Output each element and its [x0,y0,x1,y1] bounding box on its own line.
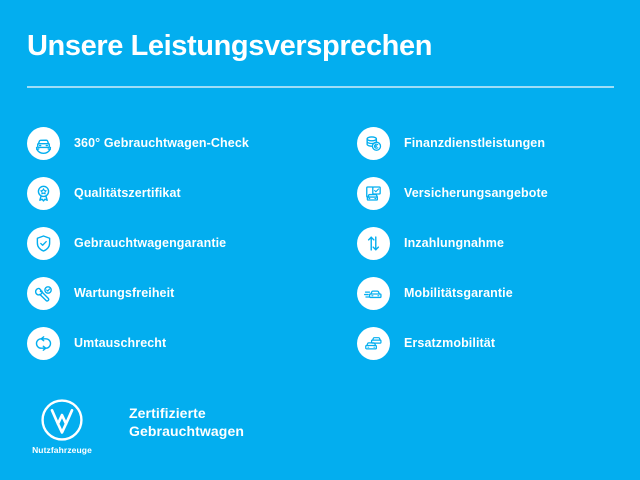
benefit-item-mobilitaetsgarantie[interactable]: Mobilitätsgarantie [357,268,627,318]
promise-slide: Unsere Leistungsversprechen 360° Gebrauc… [0,0,640,480]
header-divider [27,86,614,88]
benefit-label: Finanzdienstleistungen [404,135,545,151]
benefit-item-qualitaetszertifikat[interactable]: Qualitätszertifikat [27,168,327,218]
benefits-columns: 360° Gebrauchtwagen-Check Qualitätszerti… [0,118,640,368]
two-cars-icon [357,327,390,360]
vw-brand-sub: Nutzfahrzeuge [32,445,92,455]
benefit-item-gebrauchtwagen-check[interactable]: 360° Gebrauchtwagen-Check [27,118,327,168]
benefit-item-wartungsfreiheit[interactable]: Wartungsfreiheit [27,268,327,318]
benefit-label: Mobilitätsgarantie [404,285,513,301]
car-motion-icon [357,277,390,310]
benefit-label: Versicherungsangebote [404,185,548,201]
benefits-column-left: 360° Gebrauchtwagen-Check Qualitätszerti… [27,118,327,368]
arrows-up-down-icon [357,227,390,260]
exchange-arrows-icon [27,327,60,360]
benefit-label: Ersatzmobilität [404,335,495,351]
benefit-label: Inzahlungnahme [404,235,504,251]
benefit-label: Qualitätszertifikat [74,185,181,201]
benefit-label: Wartungsfreiheit [74,285,174,301]
benefits-column-right: Finanzdienstleistungen Versicherungsange… [357,118,627,368]
award-rosette-icon [27,177,60,210]
benefit-item-gebrauchtwagengarantie[interactable]: Gebrauchtwagengarantie [27,218,327,268]
benefit-item-inzahlungnahme[interactable]: Inzahlungnahme [357,218,627,268]
page-title: Unsere Leistungsversprechen [27,28,617,64]
benefit-item-ersatzmobilitaet[interactable]: Ersatzmobilität [357,318,627,368]
coins-euro-icon [357,127,390,160]
benefit-item-versicherungsangebote[interactable]: Versicherungsangebote [357,168,627,218]
benefit-label: Umtauschrecht [74,335,166,351]
footer-brand-lockup: Nutzfahrzeuge Zertifizierte Gebrauchtwag… [27,398,244,455]
car-360-check-icon [27,127,60,160]
benefit-label: Gebrauchtwagengarantie [74,235,226,251]
benefit-item-finanzdienstleistungen[interactable]: Finanzdienstleistungen [357,118,627,168]
vw-brand: Nutzfahrzeuge [27,398,97,455]
header: Unsere Leistungsversprechen [27,28,617,64]
footer-claim: Zertifizierte Gebrauchtwagen [129,404,244,440]
vw-roundel-logo [40,398,84,442]
wrench-check-icon [27,277,60,310]
car-document-check-icon [357,177,390,210]
shield-check-icon [27,227,60,260]
footer-claim-line-2: Gebrauchtwagen [129,422,244,440]
benefit-item-umtauschrecht[interactable]: Umtauschrecht [27,318,327,368]
benefit-label: 360° Gebrauchtwagen-Check [74,135,249,151]
footer-claim-line-1: Zertifizierte [129,404,244,422]
